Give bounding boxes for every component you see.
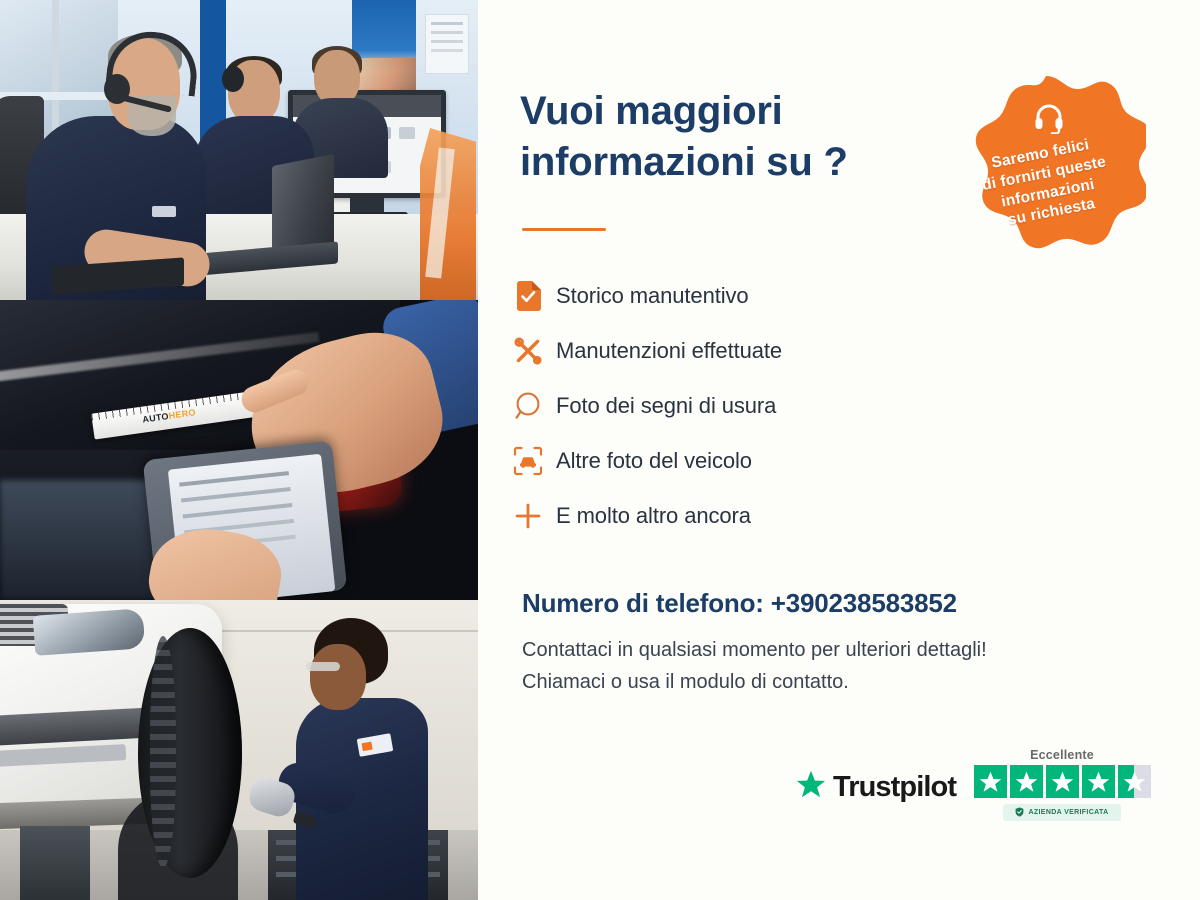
- contact-line-2: Chiamaci o usa il modulo di contatto.: [522, 666, 1162, 698]
- plus-icon: [500, 501, 556, 531]
- wall-notice-decor: [425, 14, 469, 74]
- trustpilot-wordmark: Trustpilot: [833, 771, 956, 804]
- trustpilot-widget[interactable]: Trustpilot Eccellente: [796, 748, 1156, 844]
- feature-list: Storico manutentivo Manutenzioni effettu…: [500, 268, 970, 543]
- trustpilot-stars: [968, 765, 1156, 798]
- car-scan-icon: [500, 446, 556, 476]
- rating-star-3: [1046, 765, 1079, 798]
- vehicle-inspection-photo: AUTOHERO: [0, 300, 478, 600]
- page-title: Vuoi maggiori informazioni su ?: [520, 86, 940, 188]
- rating-star-4: [1082, 765, 1115, 798]
- content-panel: Vuoi maggiori informazioni su ? Saremo f…: [478, 0, 1200, 900]
- call-center-agents-photo: [0, 0, 478, 300]
- shield-check-icon: [1015, 804, 1024, 822]
- feature-item-vehicle-photos: Altre foto del veicolo: [500, 433, 970, 488]
- feature-item-maintenance-history: Storico manutentivo: [500, 268, 970, 323]
- feature-label: Foto dei segni di usura: [556, 393, 776, 419]
- title-underline-divider: [522, 228, 606, 231]
- headline-line-2: informazioni su ?: [520, 137, 940, 188]
- promo-page: AUTOHERO: [0, 0, 1200, 900]
- tools-cross-icon: [500, 336, 556, 366]
- feature-label: Manutenzioni effettuate: [556, 338, 782, 364]
- feature-item-more: E molto altro ancora: [500, 488, 970, 543]
- trustpilot-brand: Trustpilot: [796, 770, 956, 804]
- feature-label: Altre foto del veicolo: [556, 448, 752, 474]
- rating-star-1: [974, 765, 1007, 798]
- verified-company-badge: AZIENDA VERIFICATA: [1003, 804, 1121, 821]
- contact-line-1: Contattaci in qualsiasi momento per ulte…: [522, 634, 1162, 666]
- feature-item-wear-photos: Foto dei segni di usura: [500, 378, 970, 433]
- verified-company-label: AZIENDA VERIFICATA: [1028, 809, 1108, 816]
- contact-instructions: Contattaci in qualsiasi momento per ulte…: [522, 634, 1162, 699]
- trustpilot-rating: Eccellente: [968, 748, 1156, 821]
- document-check-icon: [500, 281, 556, 311]
- feature-item-services-done: Manutenzioni effettuate: [500, 323, 970, 378]
- headline-line-1: Vuoi maggiori: [520, 86, 940, 137]
- magnifier-icon: [500, 391, 556, 421]
- rating-star-5-half: [1118, 765, 1151, 798]
- photo-column: AUTOHERO: [0, 0, 478, 900]
- trustpilot-star-icon: [796, 770, 826, 804]
- workshop-wheel-photo: [0, 600, 478, 900]
- orange-rack-decor: [420, 128, 476, 300]
- headset-icon: [1032, 100, 1066, 134]
- trustpilot-rating-label: Eccellente: [968, 748, 1156, 762]
- mechanic-person-decor: [300, 618, 440, 900]
- phone-number-heading: Numero di telefono: +390238583852: [522, 588, 957, 619]
- feature-label: E molto altro ancora: [556, 503, 751, 529]
- background-blur-decor: [0, 480, 170, 600]
- availability-badge: Saremo felici di fornirti queste informa…: [946, 72, 1146, 284]
- car-headlight-decor: [33, 608, 146, 656]
- wheel-tread-decor: [150, 636, 176, 868]
- lift-post-decor: [20, 826, 90, 900]
- ruler-brand-part1: AUTO: [142, 411, 170, 425]
- feature-label: Storico manutentivo: [556, 283, 749, 309]
- rating-star-2: [1010, 765, 1043, 798]
